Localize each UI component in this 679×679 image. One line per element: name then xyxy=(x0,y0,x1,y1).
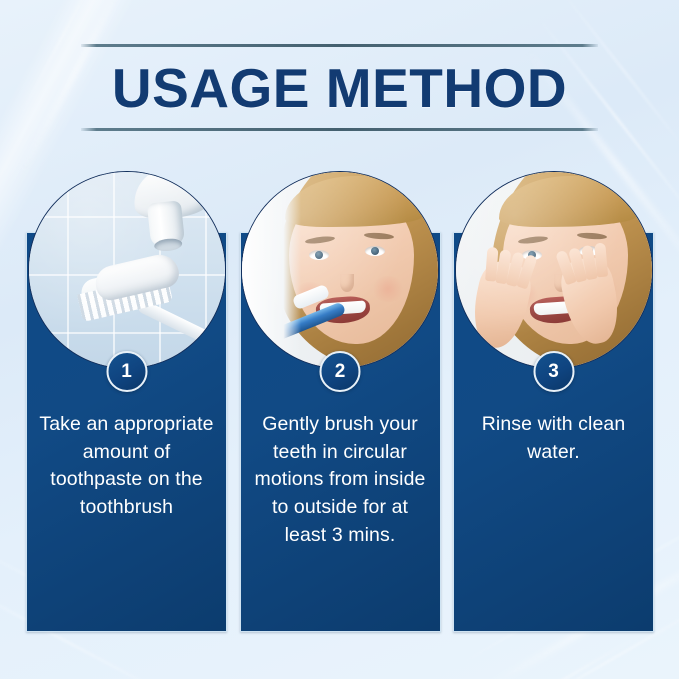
step-panels: 1 Take an appropriate amount of toothpas… xyxy=(26,232,654,632)
photo-sheen-overlay xyxy=(29,172,225,368)
page-title: USAGE METHOD xyxy=(0,47,679,128)
step-number-badge-2: 2 xyxy=(320,351,361,392)
step-number-2: 2 xyxy=(335,362,346,381)
step-card-1[interactable]: 1 Take an appropriate amount of toothpas… xyxy=(26,232,227,632)
step-card-3[interactable]: 3 Rinse with clean water. xyxy=(453,232,654,632)
step-1-photo xyxy=(28,171,226,369)
title-rule-bottom xyxy=(81,128,598,131)
step-2-photo xyxy=(241,171,439,369)
photo-sheen-overlay xyxy=(456,172,652,368)
header: USAGE METHOD xyxy=(0,44,679,131)
step-caption-2: Gently brush your teeth in circular moti… xyxy=(249,411,432,549)
step-caption-1: Take an appropriate amount of toothpaste… xyxy=(35,411,218,522)
step-caption-3: Rinse with clean water. xyxy=(462,411,645,466)
step-card-2[interactable]: 2 Gently brush your teeth in circular mo… xyxy=(240,232,441,632)
step-3-photo xyxy=(455,171,653,369)
step-number-3: 3 xyxy=(548,362,559,381)
step-number-badge-1: 1 xyxy=(106,351,147,392)
step-number-1: 1 xyxy=(121,362,132,381)
streak-bottom-right-4 xyxy=(462,637,636,679)
step-number-badge-3: 3 xyxy=(533,351,574,392)
photo-sheen-overlay xyxy=(242,172,438,368)
